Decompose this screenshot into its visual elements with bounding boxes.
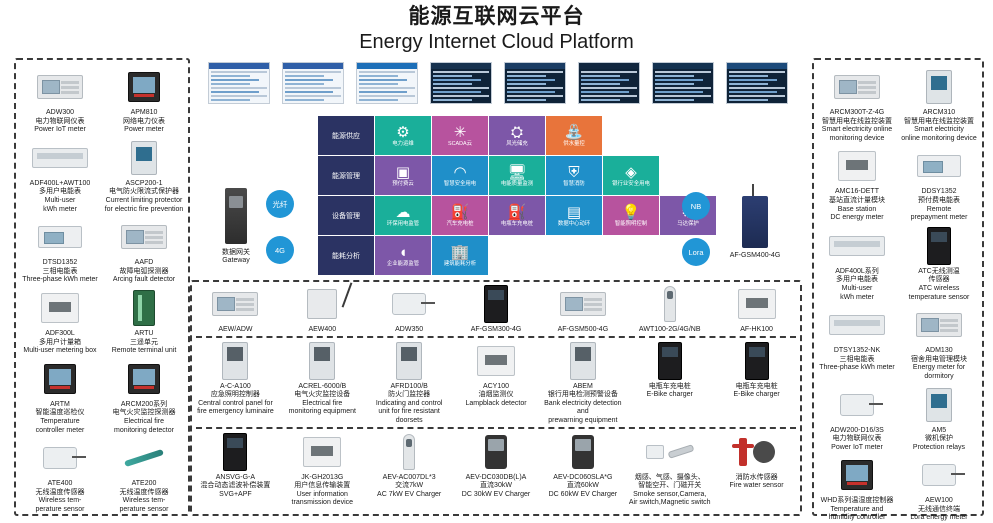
product-image — [202, 432, 268, 472]
product-name-cn: 交流7kW — [377, 482, 441, 491]
pic-sensor — [840, 394, 874, 416]
pic-multi — [829, 315, 885, 335]
device-text: ARCM310智慧用电在线监控装置Smart electricityonline… — [901, 109, 977, 143]
product-image — [637, 432, 703, 472]
pic-panel — [128, 364, 160, 394]
module-tile[interactable]: ▤数据中心动环 — [546, 196, 602, 235]
bank-power-icon: ◈ — [625, 165, 637, 180]
pic-box — [738, 289, 776, 319]
pic-sensor — [392, 293, 426, 315]
device-image — [114, 217, 174, 257]
device-card: WHD系列温湿度控制器Temperature andhumidity contr… — [816, 452, 898, 523]
pic-relay — [131, 141, 157, 175]
device-image — [30, 359, 90, 399]
gateway-icon — [225, 188, 247, 244]
thumbnail-body — [507, 71, 563, 101]
device-name-cn: 故障电弧探测器 — [113, 268, 175, 277]
device-name-en: ATC wirelesstemperature sensor — [909, 285, 970, 302]
device-card: ATE400无线温度传感器Wireless tem-perature senso… — [18, 435, 102, 514]
pic-hydrant — [739, 438, 747, 466]
device-text: AMC16-DETT基站直流计量模块Base stationDC energy … — [829, 188, 885, 222]
left-device-panel: ADW300电力物联网仪表Power IoT meterAPM810网络电力仪表… — [14, 58, 190, 516]
device-card: ADF300L多用户计量箱Multi-user metering box — [18, 285, 102, 356]
gateway-node: 数据网关 Gateway — [208, 188, 264, 264]
pic-meter — [38, 226, 82, 248]
product-model: 电瓶车充电桩 — [647, 383, 693, 392]
product-image — [463, 432, 529, 472]
thumbnail-titlebar — [357, 63, 417, 69]
module-tile-label: 建筑能耗分析 — [444, 261, 476, 267]
device-name-cn: 无线通信终端 — [910, 506, 967, 515]
thumbnail-titlebar — [431, 63, 491, 69]
gsm-module-node: AF-GSM400-4G — [720, 196, 790, 259]
device-name-en: Electrical firemonitoring detector — [113, 418, 176, 435]
product-text: AF-HK100 — [740, 326, 773, 335]
product-image — [724, 432, 790, 472]
device-text: ADF400L系列多用户电能表Multi-userkWh meter — [835, 268, 879, 302]
device-image — [827, 455, 887, 495]
module-tile[interactable]: ⛨智慧消防 — [546, 156, 602, 195]
title-english: Energy Internet Cloud Platform — [0, 30, 993, 55]
module-tile-label: 环保用电监管 — [387, 221, 419, 227]
device-image — [30, 67, 90, 107]
product-name-cn: 油烟监测仪 — [465, 391, 526, 400]
device-model: ARTU — [112, 330, 177, 339]
module-tile[interactable]: ⚙电力运维 — [375, 116, 431, 155]
lighting-icon: 💡 — [622, 205, 641, 220]
product-model: JK-GH2013G — [292, 474, 353, 483]
pic-cab — [223, 433, 247, 471]
device-name-cn: 无线温度传感器 — [119, 489, 168, 498]
title-chinese: 能源互联网云平台 — [0, 4, 993, 30]
product-card: ACY100油烟监测仪Lampblack detector — [453, 339, 540, 426]
product-name-en: DC 30kW EV Charger — [462, 491, 530, 500]
product-model: ACY100 — [465, 383, 526, 392]
product-card: JK-GH2013G用户信息传输装置User informationtransm… — [279, 430, 366, 508]
product-model: ABEM — [541, 383, 624, 392]
thumbnail-titlebar — [727, 63, 787, 69]
pic-panel — [128, 72, 160, 102]
product-text: A-C-A100应急照明控制器Central control panel for… — [197, 383, 274, 417]
device-text: ARTU三遥单元Remote terminal unit — [112, 330, 177, 356]
device-model: ATE400 — [35, 480, 84, 489]
product-text: JK-GH2013G用户信息传输装置User informationtransm… — [292, 474, 353, 508]
device-model: DDSY1352 — [911, 188, 968, 197]
device-name-cn: 多用户电能表 — [30, 188, 91, 197]
product-card: AEV-DC030DB(L)A直流30kWDC 30kW EV Charger — [453, 430, 540, 508]
product-image — [202, 284, 268, 324]
product-text: 电瓶车充电桩E-Bike charger — [733, 383, 779, 400]
pic-din — [212, 292, 258, 316]
product-text: 消防水传感器Fire water sensor — [730, 474, 784, 491]
module-tile-label: 智慧消防 — [563, 181, 585, 187]
thumbnail-body — [285, 71, 341, 101]
product-text: AWT100-2G/4G/NB — [639, 326, 701, 335]
product-text: AEV-DC030DB(L)A直流30kWDC 30kW EV Charger — [462, 474, 530, 500]
device-image — [909, 146, 969, 186]
right-device-grid: ARCM300T-Z-4G智慧用电在线监控装置Smart electricity… — [814, 60, 982, 514]
device-card: APM810网络电力仪表Power meter — [102, 64, 186, 135]
datacenter-icon: ▤ — [567, 205, 581, 220]
product-text: AEW400 — [308, 326, 336, 335]
product-image — [724, 284, 790, 324]
product-text: AEV-AC007DL*3交流7kWAC 7kW EV Charger — [377, 474, 441, 500]
device-name-en: Multi-userkWh meter — [30, 197, 91, 214]
pic-box — [41, 293, 79, 323]
product-image — [637, 341, 703, 381]
thumbnail-body — [359, 71, 415, 101]
device-model: DTSY1352-NK — [819, 347, 894, 356]
module-tile-label: 电瓶车充电桩 — [501, 221, 533, 227]
product-name-cn: 烟感、气感、摄像头、智能空开、门磁开关 — [629, 474, 711, 491]
device-name-cn: 三相电能表 — [22, 268, 97, 277]
module-tile[interactable]: 🏢建筑能耗分析 — [432, 236, 488, 275]
pic-kiosk — [396, 342, 422, 380]
product-name-cn: 防火门监控器 — [368, 391, 451, 400]
module-tile-label: 汽车充电桩 — [447, 221, 474, 227]
device-model: AEW100 — [910, 497, 967, 506]
module-tile[interactable]: ✳SCADA云 — [432, 116, 488, 155]
device-name-en: Current limiting protectorfor electric f… — [105, 197, 184, 214]
module-tile[interactable]: 💡智能照明控制 — [603, 196, 659, 235]
product-model: 电瓶车充电桩 — [733, 383, 779, 392]
device-card: ATC无线测温传感器ATC wirelesstemperature sensor — [898, 223, 980, 302]
device-name-en: Arcing fault detector — [113, 276, 175, 285]
product-name-en: Central control panel forfire emergency … — [197, 400, 274, 417]
thumbnail-body — [581, 71, 637, 101]
product-name-cn: 应急照明控制器 — [197, 391, 274, 400]
product-text: 烟感、气感、摄像头、智能空开、门磁开关Smoke sensor,Camera,A… — [629, 474, 711, 508]
product-model: AF-GSM300-4G — [471, 326, 522, 335]
dashboard-thumbnail — [430, 62, 492, 104]
safe-power-icon: ◠ — [453, 165, 466, 180]
thumbnail-body — [729, 71, 785, 101]
device-card: AEW100无线通信终端Lora energy meter — [898, 452, 980, 523]
product-model: ANSVG-G-A — [200, 474, 270, 483]
gateway-label-en: Gateway — [208, 257, 264, 264]
device-model: AM5 — [913, 427, 965, 436]
module-tile-label: 数据中心动环 — [558, 221, 590, 227]
dashboard-thumbnail — [652, 62, 714, 104]
prepaid-cloud-icon: ▣ — [396, 165, 410, 180]
badge-fiber: 光纤 — [266, 190, 294, 218]
pic-relay — [926, 388, 952, 422]
product-image — [376, 284, 442, 324]
product-model: AEV-DC060SLA*G — [549, 474, 617, 483]
pic-kiosk — [309, 342, 335, 380]
module-category-4: 能耗分析 — [318, 236, 374, 275]
device-text: DTSY1352-NK三相电能表Three-phase kWh meter — [819, 347, 894, 373]
product-name-cn: 直流60kW — [549, 482, 617, 491]
device-image — [114, 438, 174, 478]
product-text: ANSVG-G-A混合动态滤波补偿装置SVG+APF — [200, 474, 270, 500]
pic-cab — [745, 342, 769, 380]
gateway-label-cn: 数据网关 — [208, 247, 264, 257]
product-text: 电瓶车充电桩E-Bike charger — [647, 383, 693, 400]
device-card: ATE200无线温度传感器Wireless tem-perature senso… — [102, 435, 186, 514]
thumbnail-body — [433, 71, 489, 101]
device-name-en: Protection relays — [913, 444, 965, 453]
device-card: ADW300电力物联网仪表Power IoT meter — [18, 64, 102, 135]
pic-din — [37, 75, 83, 99]
module-tile[interactable]: ◖企业能源监管 — [375, 236, 431, 275]
product-model: AFRD100/B — [368, 383, 451, 392]
device-name-cn: 电气火灾监控探测器 — [113, 409, 176, 418]
dashboard-thumbnail — [356, 62, 418, 104]
device-name-cn: 智慧用电在线监控装置 — [901, 118, 977, 127]
device-name-cn: 多用户计量箱 — [23, 339, 96, 348]
device-name-en: Multi-userkWh meter — [835, 285, 879, 302]
device-text: ARCM300T-Z-4G智慧用电在线监控装置Smart electricity… — [822, 109, 892, 143]
pic-kiosk — [570, 342, 596, 380]
device-name-cn: 网络电力仪表 — [123, 118, 165, 127]
product-model: A-C-A100 — [197, 383, 274, 392]
product-text: ACREL-6000/B电气火灾监控设备Electrical firemonit… — [289, 383, 356, 417]
module-tile[interactable]: ▣预付费云 — [375, 156, 431, 195]
device-card: DTSY1352-NK三相电能表Three-phase kWh meter — [816, 302, 898, 381]
product-image — [376, 341, 442, 381]
module-tile-label: 马达保护 — [677, 221, 699, 227]
module-tile[interactable]: ⛲供水量控 — [546, 116, 602, 155]
device-text: APM810网络电力仪表Power meter — [123, 109, 165, 135]
pic-sensor — [922, 464, 956, 486]
module-tile-label: 银行业安全用电 — [612, 181, 650, 187]
device-name-cn: 智能温度巡检仪 — [36, 409, 85, 418]
device-model: ADW200-D16/3S — [830, 427, 884, 436]
pic-panel — [44, 364, 76, 394]
pic-din — [834, 75, 880, 99]
device-text: ADM130宿舍用电管理模块Energy meter for dormitory — [899, 347, 979, 381]
module-tile-label: 电能质量监测 — [501, 181, 533, 187]
dashboard-thumbnail — [282, 62, 344, 104]
device-card: ADF400L系列多用户电能表Multi-userkWh meter — [816, 223, 898, 302]
product-name-en: DC 60kW EV Charger — [549, 491, 617, 500]
car-charger-icon: ⛽ — [451, 205, 470, 220]
device-name-en: Power meter — [123, 126, 165, 135]
device-card: ARCM310智慧用电在线监控装置Smart electricityonline… — [898, 64, 980, 143]
device-card: ADF400L+AWT100多用户电能表Multi-userkWh meter — [18, 135, 102, 214]
pic-tall — [133, 290, 155, 326]
product-name-en: Bank electricity detection andprewarning… — [541, 400, 624, 426]
device-text: ATE200无线温度传感器Wireless tem-perature senso… — [119, 480, 168, 514]
device-name-cn: 三遥单元 — [112, 339, 177, 348]
product-card: AWT100-2G/4G/NB — [626, 282, 713, 335]
product-image — [463, 341, 529, 381]
product-card: AF-HK100 — [713, 282, 800, 335]
product-model: ADW350 — [395, 326, 423, 335]
product-image — [202, 341, 268, 381]
pic-cab — [927, 227, 951, 265]
fire-safety-icon: ⛨ — [568, 165, 579, 180]
product-card: ADW350 — [366, 282, 453, 335]
product-name-cn: 消防水传感器 — [730, 474, 784, 483]
device-image — [30, 217, 90, 257]
thumbnail-titlebar — [653, 63, 713, 69]
pic-box — [303, 437, 341, 467]
module-tile[interactable]: ☁环保用电监管 — [375, 196, 431, 235]
product-text: ADW350 — [395, 326, 423, 335]
module-category-2: 能源管理 — [318, 156, 374, 195]
product-card: AEW400 — [279, 282, 366, 335]
device-text: AM5微机保护Protection relays — [913, 427, 965, 453]
thumbnail-titlebar — [505, 63, 565, 69]
product-text: AF-GSM500-4G — [558, 326, 609, 335]
product-image — [289, 341, 355, 381]
device-text: ARCM200系列电气火灾监控探测器Electrical firemonitor… — [113, 401, 176, 435]
enterprise-energy-icon: ◖ — [398, 245, 407, 260]
device-image — [909, 67, 969, 107]
product-text: ABEM银行用电检测预警设备Bank electricity detection… — [541, 383, 624, 426]
device-name-cn: 预付费电能表 — [911, 197, 968, 206]
device-text: DDSY1352预付费电能表Remoteprepayment meter — [911, 188, 968, 222]
pic-cab — [484, 285, 508, 323]
dashboard-screenshot-strip — [208, 62, 788, 108]
pic-probe — [124, 449, 164, 467]
device-name-en: Three-phase kWh meter — [22, 276, 97, 285]
product-name-cn: 直流30kW — [462, 482, 530, 491]
product-card: AEV-AC007DL*3交流7kWAC 7kW EV Charger — [366, 430, 453, 508]
product-catalog-box: AEW/ADWAEW400ADW350AF-GSM300-4GAF-GSM500… — [190, 280, 802, 516]
device-image — [114, 359, 174, 399]
building-energy-icon: 🏢 — [451, 245, 470, 260]
device-text: AEW100无线通信终端Lora energy meter — [910, 497, 967, 523]
product-name-cn: 银行用电检测预警设备 — [541, 391, 624, 400]
module-tile-label: 预付费云 — [392, 181, 414, 187]
product-text: ACY100油烟监测仪Lampblack detector — [465, 383, 526, 409]
device-card: ARTM智能温度巡检仪Temperaturecontroller meter — [18, 356, 102, 435]
device-card: ARCM200系列电气火灾监控探测器Electrical firemonitor… — [102, 356, 186, 435]
product-image — [376, 432, 442, 472]
device-image — [909, 226, 969, 266]
device-name-en: Temperaturecontroller meter — [36, 418, 85, 435]
module-tile-label: 风光储充 — [506, 141, 528, 147]
device-model: ADM130 — [899, 347, 979, 356]
device-image — [30, 138, 90, 178]
device-card: DDSY1352预付费电能表Remoteprepayment meter — [898, 143, 980, 222]
module-row: 能源供应⚙电力运维✳SCADA云⛭风光储充⛲供水量控 — [318, 116, 717, 156]
device-name-en: Multi-user metering box — [23, 347, 96, 356]
module-tile-label: SCADA云 — [448, 141, 472, 147]
badge-lora: Lora — [682, 238, 710, 266]
product-card: AEV-DC060SLA*G直流60kWDC 60kW EV Charger — [539, 430, 626, 508]
badge-nb: NB — [682, 192, 710, 220]
row-divider — [196, 336, 796, 338]
pic-ev — [485, 435, 507, 469]
module-row: 能源管理▣预付费云◠智慧安全用电🖥电能质量监测⛨智慧消防◈银行业安全用电 — [318, 156, 717, 196]
pic-antenna — [307, 289, 337, 319]
module-tile[interactable]: ◈银行业安全用电 — [603, 156, 659, 195]
page-title: 能源互联网云平台 Energy Internet Cloud Platform — [0, 4, 993, 55]
module-tile[interactable]: ◠智慧安全用电 — [432, 156, 488, 195]
platform-module-grid: 能源供应⚙电力运维✳SCADA云⛭风光储充⛲供水量控能源管理▣预付费云◠智慧安全… — [318, 116, 717, 276]
device-card: DTSD1352三相电能表Three-phase kWh meter — [18, 214, 102, 285]
right-device-panel: ARCM300T-Z-4G智慧用电在线监控装置Smart electricity… — [812, 58, 984, 516]
product-model: AEV-DC030DB(L)A — [462, 474, 530, 483]
ebike-charger-icon: ⛽ — [508, 205, 527, 220]
product-image — [289, 284, 355, 324]
pic-panel — [841, 460, 873, 490]
thumbnail-titlebar — [579, 63, 639, 69]
module-tile-label: 电力运维 — [392, 141, 414, 147]
module-tile-label: 企业能源监管 — [387, 261, 419, 267]
device-image — [30, 438, 90, 478]
product-name-en: AC 7kW EV Charger — [377, 491, 441, 500]
air-switch-icon — [667, 444, 694, 459]
row-divider — [196, 427, 796, 429]
product-name-en: Lampblack detector — [465, 400, 526, 409]
pic-din — [560, 292, 606, 316]
module-tile[interactable]: ⛭风光储充 — [489, 116, 545, 155]
device-image — [114, 67, 174, 107]
device-name-cn: 微机保护 — [913, 435, 965, 444]
product-card: AF-GSM500-4G — [539, 282, 626, 335]
pic-multi — [32, 148, 88, 168]
device-name-cn: 电力物联网仪表 — [34, 118, 86, 127]
device-name-cn: 三相电能表 — [819, 356, 894, 365]
device-name-en: Base stationDC energy meter — [829, 206, 885, 223]
pic-sensor — [43, 447, 77, 469]
product-rows: AEW/ADWAEW400ADW350AF-GSM300-4GAF-GSM500… — [192, 282, 800, 508]
product-card: A-C-A100应急照明控制器Central control panel for… — [192, 339, 279, 426]
dashboard-thumbnail — [726, 62, 788, 104]
product-model: AEW/ADW — [218, 326, 252, 335]
device-name-en: Remoteprepayment meter — [911, 206, 968, 223]
device-name-en: Remote terminal unit — [112, 347, 177, 356]
product-image — [463, 284, 529, 324]
left-device-grid: ADW300电力物联网仪表Power IoT meterAPM810网络电力仪表… — [16, 60, 188, 514]
device-image — [114, 288, 174, 328]
device-image — [827, 146, 887, 186]
product-image — [550, 432, 616, 472]
product-text: AF-GSM300-4G — [471, 326, 522, 335]
product-name-en: Smoke sensor,Camera,Air switch,Magnetic … — [629, 491, 711, 508]
product-name-cn: 混合动态滤波补偿装置 — [200, 482, 270, 491]
device-name-en: Three-phase kWh meter — [819, 364, 894, 373]
thumbnail-body — [211, 71, 267, 101]
pic-din — [916, 313, 962, 337]
product-card: ANSVG-G-A混合动态滤波补偿装置SVG+APF — [192, 430, 279, 508]
module-tile[interactable]: ⛽电瓶车充电桩 — [489, 196, 545, 235]
product-model: AF-GSM500-4G — [558, 326, 609, 335]
module-tile[interactable]: ⛽汽车充电桩 — [432, 196, 488, 235]
pic-kiosk — [222, 342, 248, 380]
product-model: AEV-AC007DL*3 — [377, 474, 441, 483]
product-name-en: Indicating and controlunit for fire resi… — [368, 400, 451, 426]
badge-4g: 4G — [266, 236, 294, 264]
module-category-3: 设备管理 — [318, 196, 374, 235]
dashboard-thumbnail — [208, 62, 270, 104]
pic-multi — [829, 236, 885, 256]
device-text: WHD系列温湿度控制器Temperature andhumidity contr… — [821, 497, 894, 523]
product-row: AEW/ADWAEW400ADW350AF-GSM300-4GAF-GSM500… — [192, 282, 800, 335]
gsm-module-label: AF-GSM400-4G — [720, 252, 790, 259]
product-name-cn: 电气火灾监控设备 — [289, 391, 356, 400]
device-name-cn: 多用户电能表 — [835, 276, 879, 285]
center-region: 能源供应⚙电力运维✳SCADA云⛭风光储充⛲供水量控能源管理▣预付费云◠智慧安全… — [190, 58, 802, 516]
device-model: APM810 — [123, 109, 165, 118]
module-tile[interactable]: 🖥电能质量监测 — [489, 156, 545, 195]
device-image — [909, 385, 969, 425]
module-category-1: 能源供应 — [318, 116, 374, 155]
product-card: 电瓶车充电桩E-Bike charger — [626, 339, 713, 426]
device-card: AMC16-DETT基站直流计量模块Base stationDC energy … — [816, 143, 898, 222]
device-name-cn: 传感器 — [909, 276, 970, 285]
product-name-en: E-Bike charger — [733, 391, 779, 400]
device-text: ATC无线测温传感器ATC wirelesstemperature sensor — [909, 268, 970, 302]
device-image — [827, 305, 887, 345]
module-row: 能耗分析◖企业能源监管🏢建筑能耗分析 — [318, 236, 717, 276]
device-image — [909, 455, 969, 495]
